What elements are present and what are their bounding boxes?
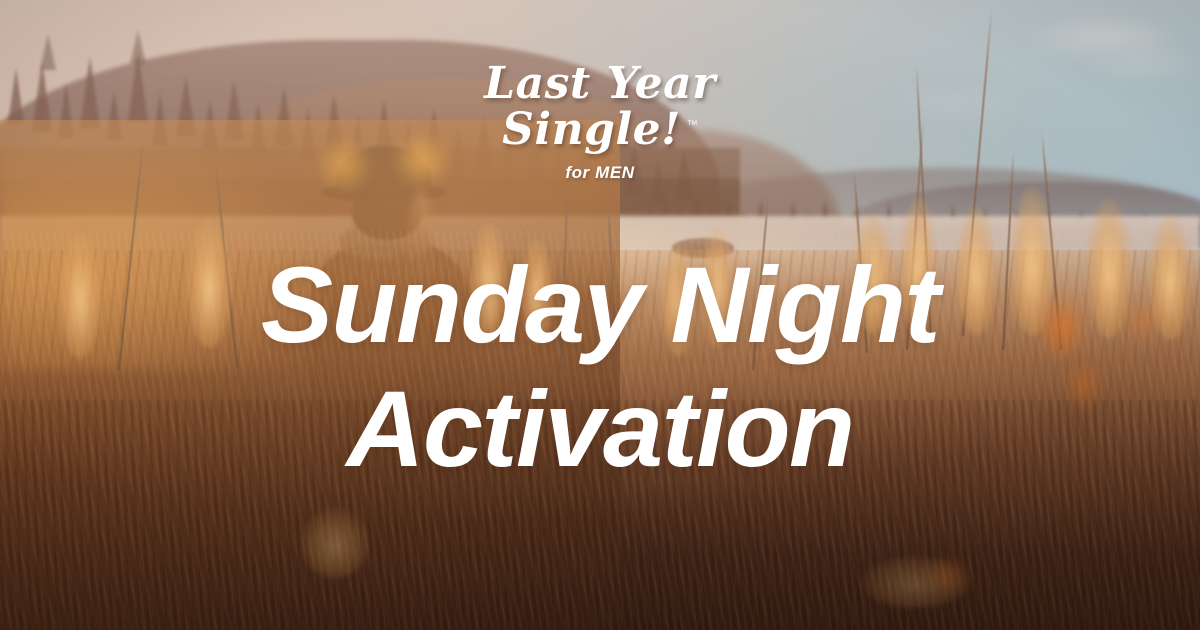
headline-line-2: Activation bbox=[0, 376, 1200, 482]
text-overlay: Last Year Single!™ for MEN Sunday Night … bbox=[0, 0, 1200, 630]
brand-logo-subtitle: for MEN bbox=[0, 164, 1200, 181]
headline-block: Sunday Night Activation bbox=[0, 252, 1200, 482]
brand-logo-line-2-text: Single! bbox=[502, 104, 681, 155]
promo-banner: Last Year Single!™ for MEN Sunday Night … bbox=[0, 0, 1200, 630]
headline-line-1: Sunday Night bbox=[0, 252, 1200, 358]
brand-logo-line-2: Single!™ bbox=[0, 108, 1200, 152]
brand-logo: Last Year Single!™ for MEN bbox=[0, 62, 1200, 181]
trademark-symbol: ™ bbox=[687, 119, 698, 131]
brand-logo-line-1: Last Year bbox=[0, 62, 1200, 106]
